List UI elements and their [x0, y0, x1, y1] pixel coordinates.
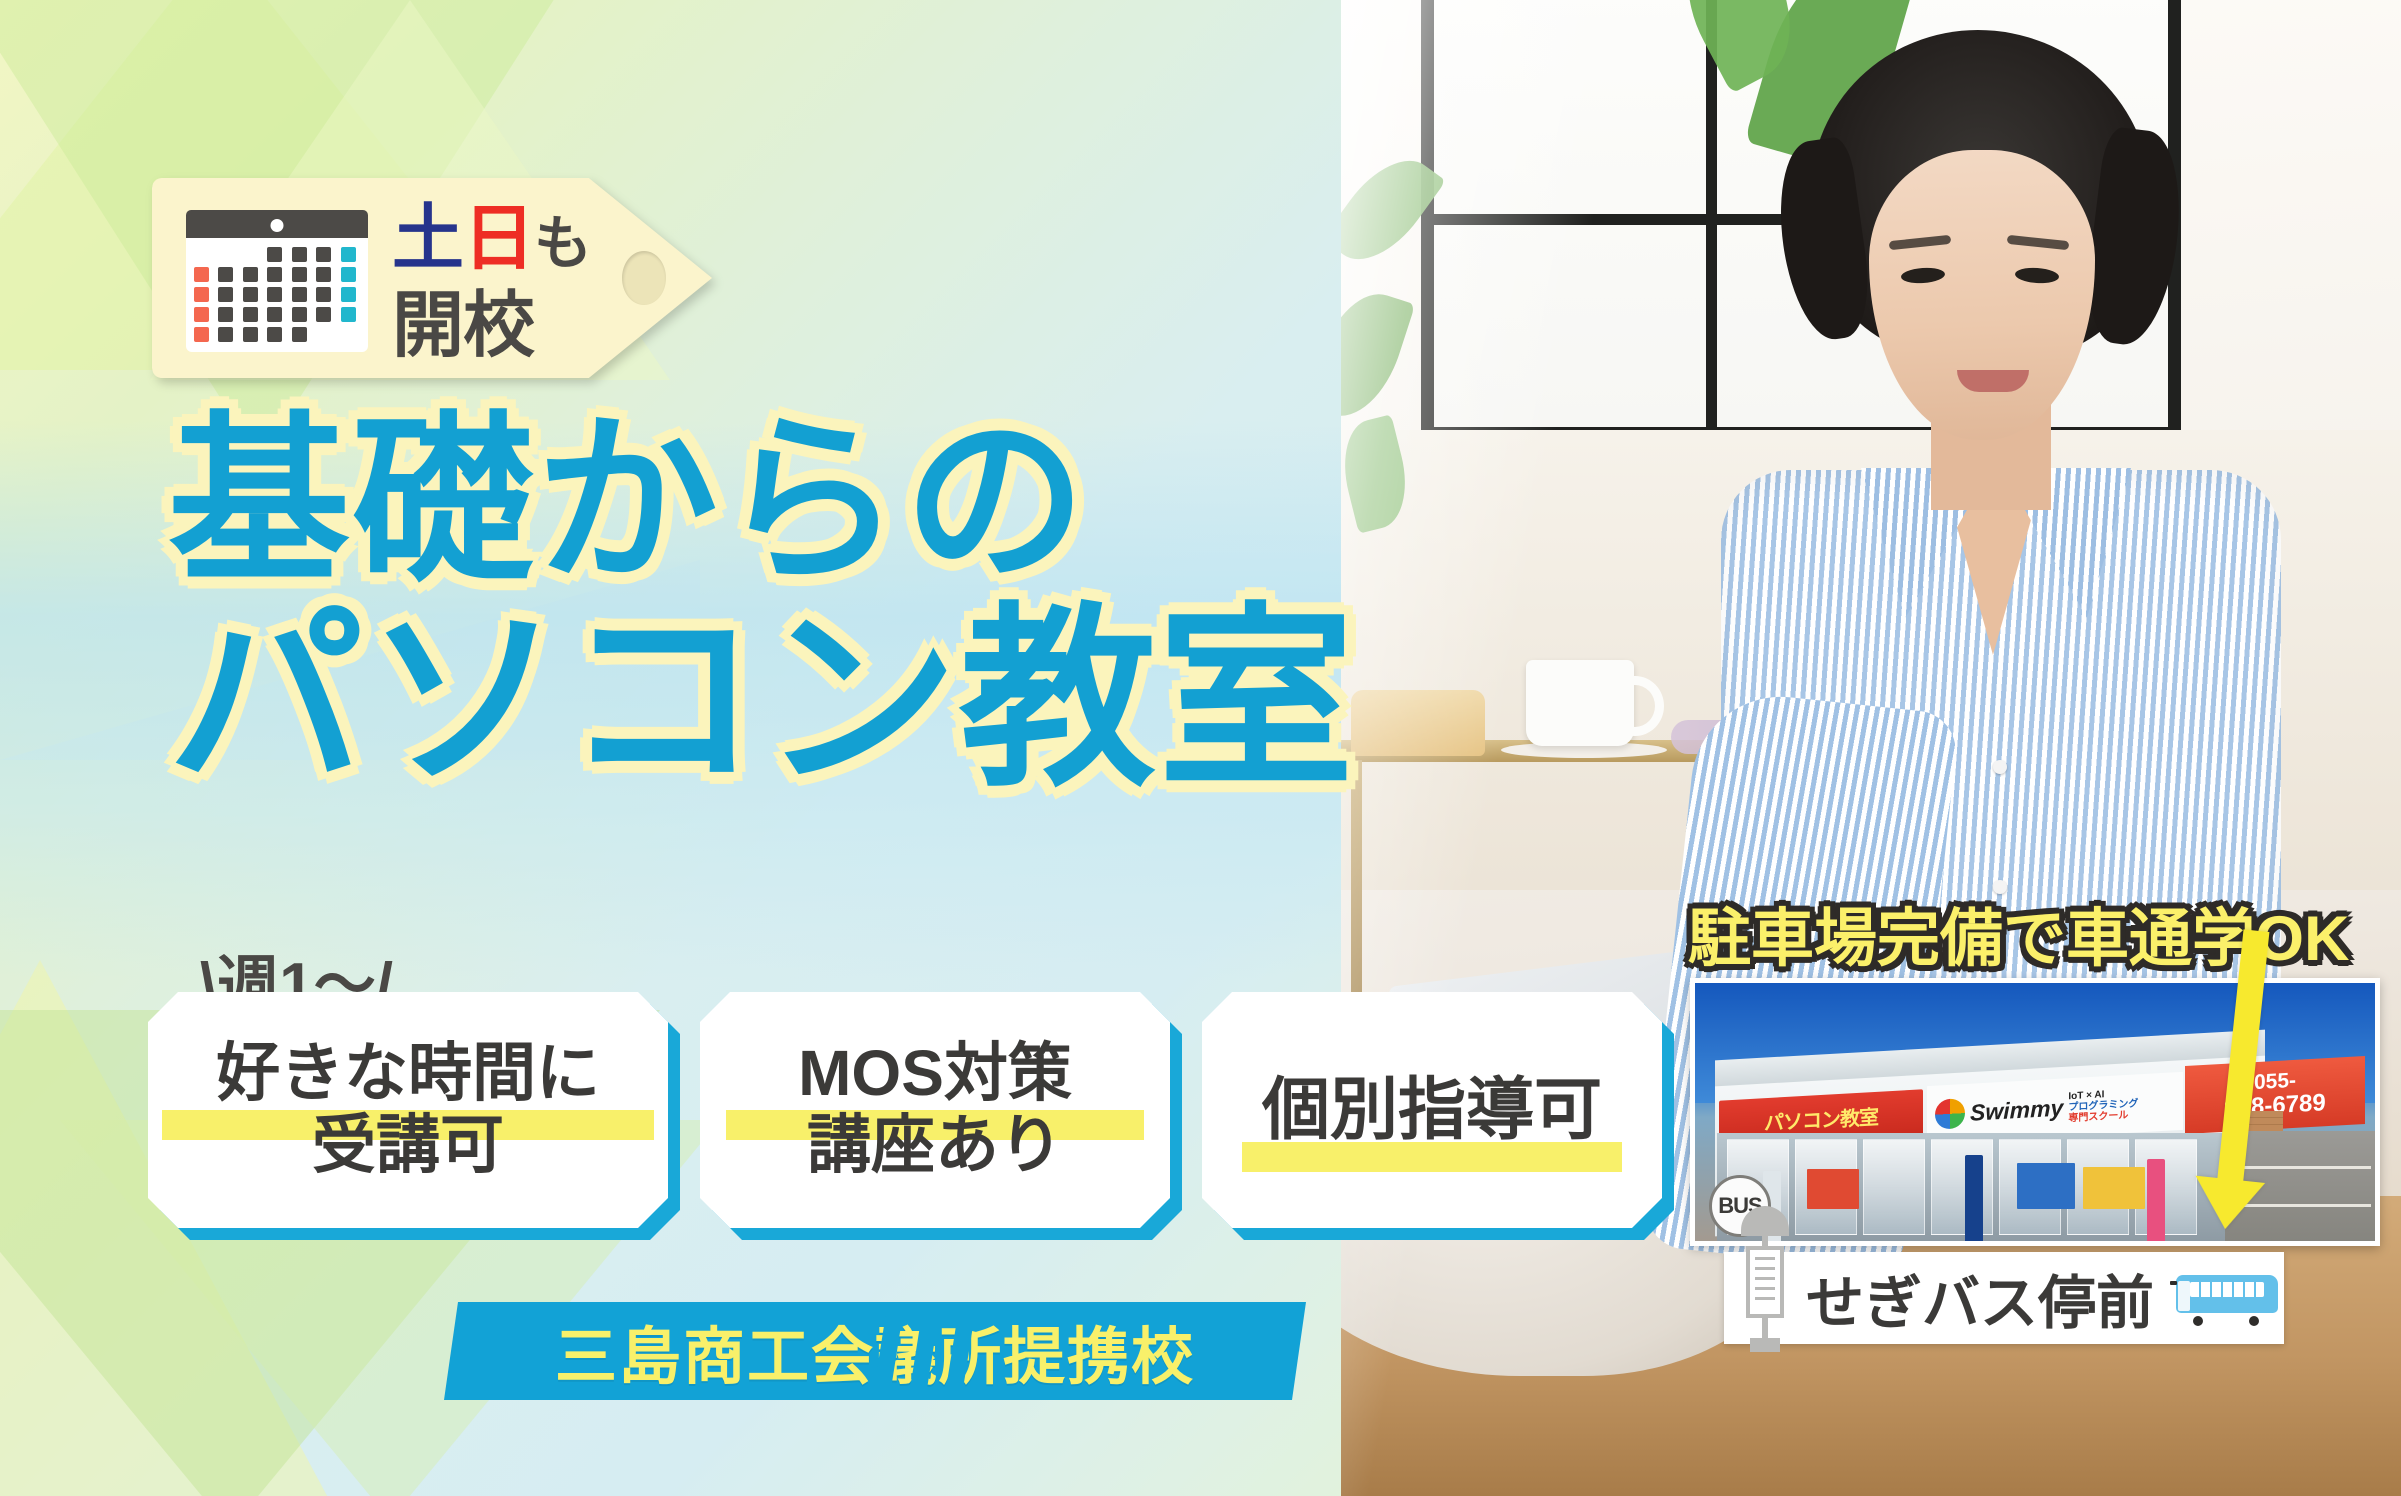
storefront-photo: パソコン教室 Swimmy IoT × AI プログラミング 専門スクール 05… — [1690, 978, 2380, 1246]
weekend-open-tag: 土日も 開校 — [152, 178, 712, 378]
bus-stop-label-strip: せぎバス停前 — [1724, 1252, 2284, 1344]
storefront-poster — [2083, 1167, 2145, 1209]
feature-box-text: 個別指導可 — [1202, 992, 1662, 1228]
storefront-flag — [1965, 1155, 1983, 1243]
tag-char-sunday: 日 — [463, 199, 534, 279]
calendar-icon — [186, 210, 368, 376]
calendar-grid — [186, 238, 368, 352]
bus-icon — [2168, 1273, 2280, 1323]
parking-ok-label: 駐車場完備で車通学OK — [1688, 888, 2388, 979]
tag-text: 土日も 開校 — [392, 198, 662, 367]
swimmy-brand-text: Swimmy — [1970, 1094, 2063, 1126]
tag-line-1: 土日も — [392, 198, 662, 285]
storefront-flag — [2147, 1159, 2165, 1243]
feature-line-2: 講座あり — [807, 1110, 1063, 1182]
parking-line — [2231, 1166, 2371, 1169]
storefront-poster — [1807, 1169, 1859, 1209]
storefront-window — [1863, 1139, 1925, 1235]
page-title: 基礎からの パソコン教室 — [168, 410, 1488, 798]
feature-line-1: 好きな時間に — [216, 1038, 600, 1110]
feature-box-mos-course[interactable]: MOS対策 講座あり — [700, 992, 1170, 1228]
storefront-window — [1931, 1139, 1993, 1235]
feature-box-flexible-time[interactable]: 好きな時間に 受講可 — [148, 992, 668, 1228]
feature-line-1: MOS対策 — [798, 1038, 1072, 1110]
promo-banner-stage: 土日も 開校 基礎からの パソコン教室 \週1〜/ 好きな時間に 受講可 MOS… — [0, 0, 2401, 1496]
storefront-glass-front — [1717, 1133, 2263, 1243]
bus-stop-label-text: せぎバス停前 — [1806, 1256, 2154, 1340]
feature-box-private-lesson[interactable]: 個別指導可 — [1202, 992, 1662, 1228]
swimmy-sub-line-3: 専門スクール — [2068, 1109, 2128, 1123]
storefront-sign-pc-class-text: パソコン教室 — [1764, 1100, 1878, 1135]
tag-char-mo: も — [534, 211, 591, 276]
storefront-poster — [2017, 1163, 2075, 1209]
swimmy-subtitle: IoT × AI プログラミング 専門スクール — [2068, 1087, 2138, 1124]
swimmy-logo-icon — [1935, 1098, 1965, 1130]
feature-line-2: 受講可 — [312, 1110, 504, 1182]
title-line-1: 基礎からの — [168, 410, 1488, 592]
title-line-2: パソコン教室 — [168, 602, 1488, 798]
feature-line-1: 個別指導可 — [1262, 1072, 1602, 1148]
tag-line-2: 開校 — [392, 285, 662, 367]
calendar-header — [186, 210, 368, 238]
bus-stop-sign-icon — [1738, 1228, 1792, 1344]
tag-char-saturday: 土 — [392, 199, 463, 279]
